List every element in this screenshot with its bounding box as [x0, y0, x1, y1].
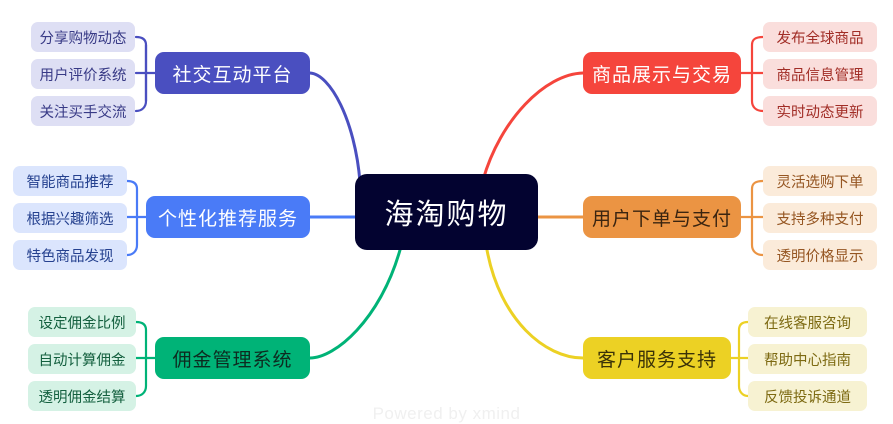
edge-service-leaves	[731, 322, 748, 396]
edge-social-leaves	[136, 37, 155, 111]
root-node[interactable]: 海淘购物	[355, 174, 538, 250]
branch-node-goods[interactable]: 商品展示与交易	[583, 52, 741, 94]
leaf-node-goods-1[interactable]: 发布全球商品	[763, 22, 877, 52]
leaf-node-order-2[interactable]: 支持多种支付	[763, 203, 877, 233]
leaf-node-order-3[interactable]: 透明价格显示	[763, 240, 877, 270]
leaf-node-order-1[interactable]: 灵活选购下单	[763, 166, 877, 196]
branch-node-service[interactable]: 客户服务支持	[583, 337, 731, 379]
leaf-node-service-2[interactable]: 帮助中心指南	[748, 344, 867, 374]
branch-node-commission[interactable]: 佣金管理系统	[155, 337, 310, 379]
edge-root-social	[310, 73, 360, 182]
leaf-node-goods-2[interactable]: 商品信息管理	[763, 59, 877, 89]
leaf-node-service-1[interactable]: 在线客服咨询	[748, 307, 867, 337]
leaf-node-social-2[interactable]: 用户评价系统	[31, 59, 135, 89]
branch-node-order[interactable]: 用户下单与支付	[583, 196, 741, 238]
leaf-node-recommendation-3[interactable]: 特色商品发现	[13, 240, 127, 270]
branch-node-social[interactable]: 社交互动平台	[155, 52, 310, 94]
branch-node-recommendation[interactable]: 个性化推荐服务	[146, 196, 310, 238]
edge-order-leaves	[741, 181, 763, 255]
leaf-node-social-3[interactable]: 关注买手交流	[31, 96, 135, 126]
edge-root-service	[487, 250, 583, 358]
edge-recommendation-leaves	[127, 181, 146, 255]
edge-root-commission	[310, 250, 400, 358]
watermark-text: Powered by xmind	[0, 404, 893, 424]
leaf-node-social-1[interactable]: 分享购物动态	[31, 22, 135, 52]
edge-goods-leaves	[741, 37, 763, 111]
leaf-node-commission-2[interactable]: 自动计算佣金	[28, 344, 136, 374]
leaf-node-goods-3[interactable]: 实时动态更新	[763, 96, 877, 126]
edge-root-goods	[483, 73, 583, 180]
leaf-node-recommendation-2[interactable]: 根据兴趣筛选	[13, 203, 127, 233]
edge-commission-leaves	[136, 322, 155, 396]
leaf-node-commission-1[interactable]: 设定佣金比例	[28, 307, 136, 337]
leaf-node-recommendation-1[interactable]: 智能商品推荐	[13, 166, 127, 196]
mindmap-canvas: 海淘购物 社交互动平台 分享购物动态 用户评价系统 关注买手交流 个性化推荐服务…	[0, 0, 893, 424]
